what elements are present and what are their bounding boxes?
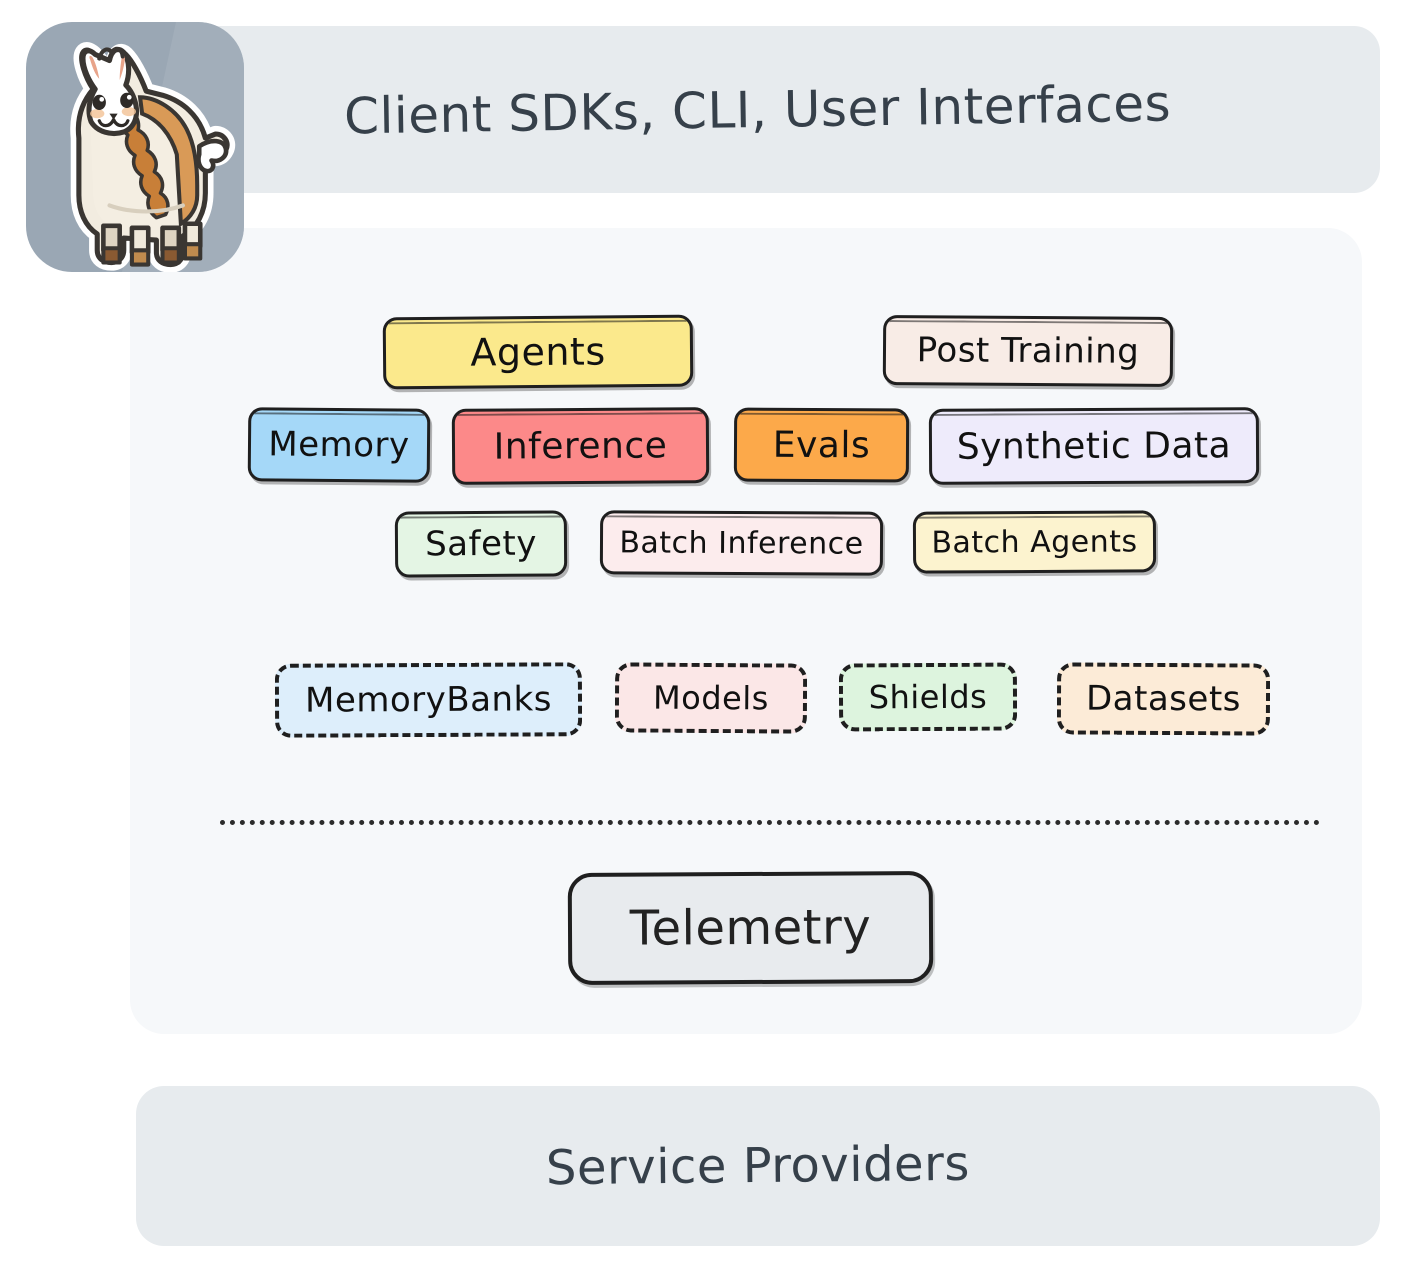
api-box-batch-agents-label: Batch Agents bbox=[931, 524, 1137, 560]
resource-row: MemoryBanks Models Shields Datasets bbox=[275, 663, 1285, 737]
api-box-memory[interactable]: Memory bbox=[248, 407, 431, 483]
api-box-post-training-label: Post Training bbox=[917, 330, 1140, 372]
api-box-synthetic-data-label: Synthetic Data bbox=[957, 425, 1232, 467]
api-row-3: Safety Batch Inference Batch Agents bbox=[395, 511, 1295, 577]
api-box-synthetic-data[interactable]: Synthetic Data bbox=[929, 407, 1259, 485]
resource-box-datasets-label: Datasets bbox=[1086, 679, 1241, 720]
api-box-batch-inference[interactable]: Batch Inference bbox=[600, 510, 883, 575]
dotted-divider bbox=[220, 820, 1320, 825]
service-providers-bar: Service Providers bbox=[136, 1086, 1380, 1246]
llama-icon bbox=[26, 22, 244, 272]
llama-stack-panel: Agents Post Training Memory Inference Ev… bbox=[130, 228, 1362, 1034]
llama-logo-badge bbox=[26, 22, 244, 272]
client-interfaces-bar: Client SDKs, CLI, User Interfaces bbox=[136, 26, 1380, 193]
api-row-1: Agents Post Training bbox=[383, 316, 1303, 388]
telemetry-box[interactable]: Telemetry bbox=[568, 871, 934, 985]
resource-box-models[interactable]: Models bbox=[615, 662, 807, 733]
resource-box-models-label: Models bbox=[653, 679, 769, 718]
api-box-safety-label: Safety bbox=[425, 524, 537, 565]
resource-box-memorybanks[interactable]: MemoryBanks bbox=[275, 662, 582, 738]
resource-box-datasets[interactable]: Datasets bbox=[1057, 662, 1270, 735]
resource-box-shields[interactable]: Shields bbox=[839, 663, 1017, 732]
api-box-memory-label: Memory bbox=[268, 424, 410, 465]
api-box-agents[interactable]: Agents bbox=[383, 315, 694, 390]
api-box-batch-agents[interactable]: Batch Agents bbox=[913, 510, 1156, 573]
resource-box-shields-label: Shields bbox=[869, 678, 988, 717]
api-box-evals-label: Evals bbox=[773, 424, 871, 466]
telemetry-label: Telemetry bbox=[630, 899, 872, 956]
api-box-post-training[interactable]: Post Training bbox=[883, 315, 1173, 387]
api-row-2: Memory Inference Evals Synthetic Data bbox=[248, 408, 1308, 484]
resource-box-memorybanks-label: MemoryBanks bbox=[305, 679, 552, 720]
api-box-evals[interactable]: Evals bbox=[734, 408, 909, 483]
client-interfaces-label: Client SDKs, CLI, User Interfaces bbox=[344, 74, 1172, 145]
api-box-agents-label: Agents bbox=[470, 329, 606, 374]
service-providers-label: Service Providers bbox=[546, 1136, 970, 1196]
api-box-inference-label: Inference bbox=[494, 425, 668, 467]
api-box-safety[interactable]: Safety bbox=[395, 510, 567, 577]
api-box-inference[interactable]: Inference bbox=[452, 407, 710, 485]
api-box-batch-inference-label: Batch Inference bbox=[619, 525, 863, 561]
